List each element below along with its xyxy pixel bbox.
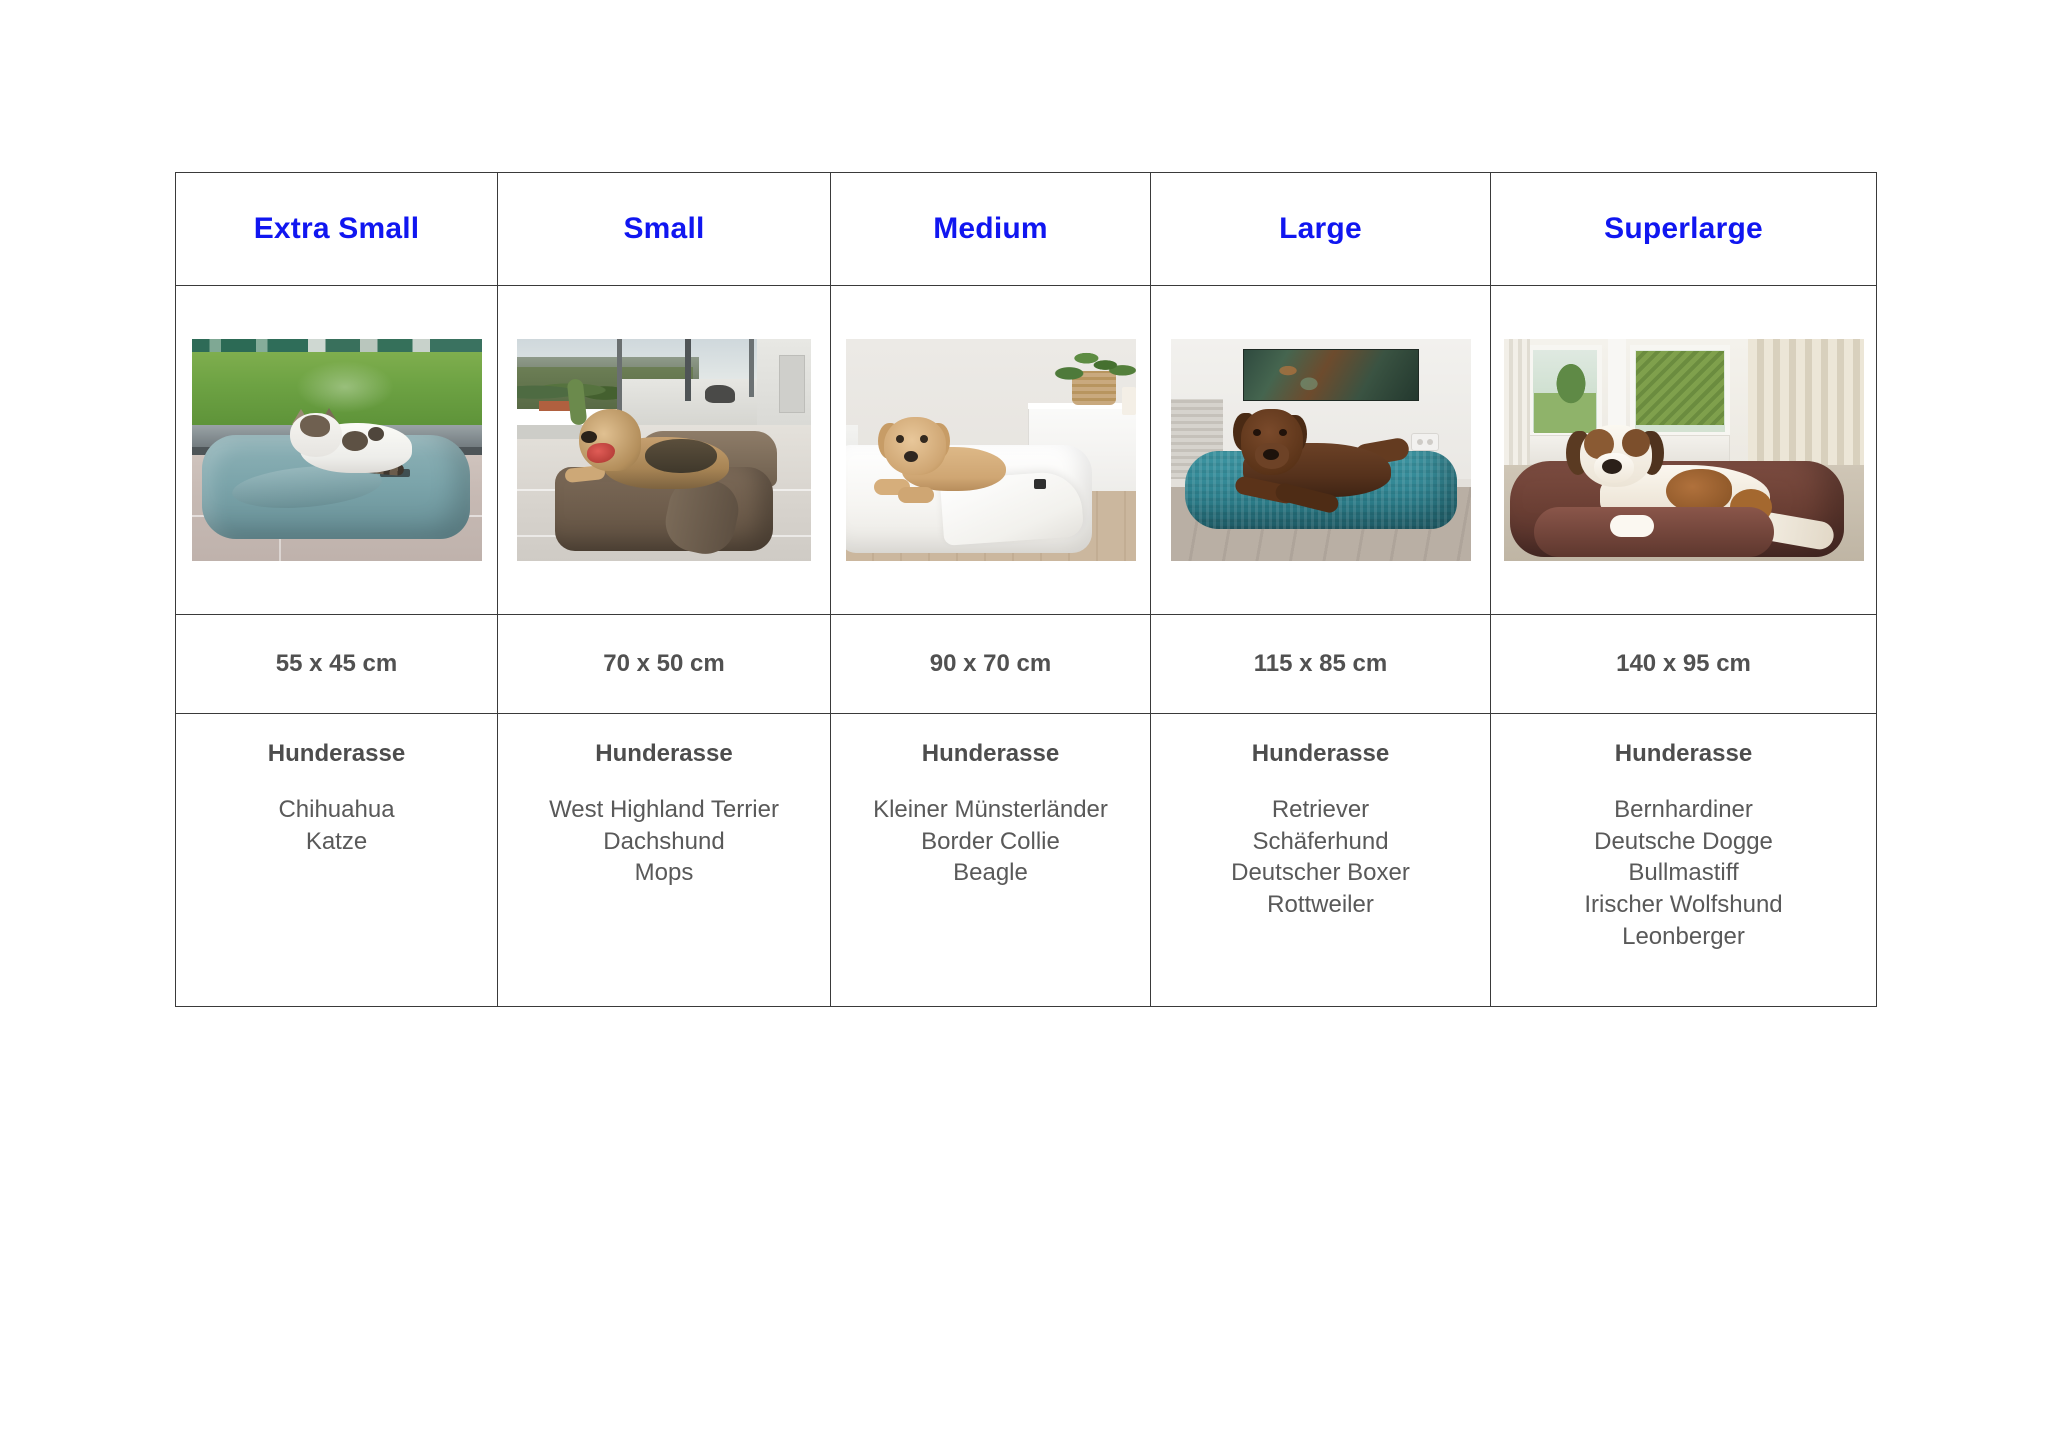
photo-cat-on-blue-dog-bed (192, 339, 482, 561)
table-breeds-row: Hunderasse Chihuahua Katze Hunderasse We… (176, 714, 1877, 1007)
dimension-cell-superlarge: 140 x 95 cm (1491, 615, 1877, 714)
dimension-cell-medium: 90 x 70 cm (831, 615, 1151, 714)
photo-layer-bed-label-tag (1034, 479, 1046, 489)
list-item: Leonberger (1491, 921, 1876, 953)
breed-title-superlarge: Hunderasse (1491, 740, 1876, 768)
photo-layer-dog-eye-left (1253, 429, 1261, 436)
photo-wrap-medium (831, 286, 1150, 614)
list-item: Irischer Wolfshund (1491, 889, 1876, 921)
photo-layer-dog-paw-right (898, 487, 934, 503)
photo-layer-bed-front-bolster (1534, 507, 1774, 557)
breeds-cell-medium: Hunderasse Kleiner Münsterländer Border … (831, 714, 1151, 1007)
header-cell-extra-small: Extra Small (176, 173, 498, 286)
photo-layer-dog-eye-right (1279, 429, 1287, 436)
photo-layer-candle (1122, 387, 1136, 415)
photo-layer-window-mullion-3 (749, 339, 754, 397)
photo-layer-wall-panel (779, 355, 805, 413)
page-canvas: Extra Small Small Medium Large Superlarg… (0, 0, 2048, 1448)
list-item: Border Collie (831, 826, 1150, 858)
list-item: Rottweiler (1151, 889, 1490, 921)
photo-layer-window-mullion-2 (685, 339, 691, 401)
photo-layer-artwork-detail (1267, 353, 1337, 397)
list-item: Kleiner Münsterländer (831, 794, 1150, 826)
breed-block-extra-small: Hunderasse Chihuahua Katze (176, 714, 497, 857)
breed-block-large: Hunderasse Retriever Schäferhund Deutsch… (1151, 714, 1490, 921)
breeds-cell-extra-small: Hunderasse Chihuahua Katze (176, 714, 498, 1007)
photo-cell-small (498, 286, 831, 615)
photo-layer-dog-eye-left (896, 435, 904, 443)
photo-layer-hedge (1636, 351, 1724, 425)
photo-layer-dog-face-mask-right (1622, 429, 1650, 457)
photo-wrap-small (498, 286, 830, 614)
photo-layer-cat-patch (342, 431, 368, 451)
size-name-small: Small (623, 212, 704, 245)
size-name-extra-small: Extra Small (254, 212, 420, 245)
dimension-value-large: 115 x 85 cm (1254, 650, 1387, 677)
dimension-value-superlarge: 140 x 95 cm (1616, 650, 1751, 677)
list-item: Katze (176, 826, 497, 858)
photo-layer-cat-patch-small (368, 427, 384, 441)
photo-layer-dog-nose (904, 451, 918, 462)
breeds-cell-superlarge: Hunderasse Bernhardiner Deutsche Dogge B… (1491, 714, 1877, 1007)
photo-terrier-on-brown-sofa-bed (517, 339, 811, 561)
breed-title-small: Hunderasse (498, 740, 830, 768)
list-item: Chihuahua (176, 794, 497, 826)
list-item: Dachshund (498, 826, 830, 858)
dimension-value-medium: 90 x 70 cm (930, 650, 1051, 677)
photo-chocolate-labrador-on-teal-dog-bed (1171, 339, 1471, 561)
breed-block-superlarge: Hunderasse Bernhardiner Deutsche Dogge B… (1491, 714, 1876, 952)
photo-layer-terrace-furniture (705, 385, 735, 403)
photo-saint-bernard-on-brown-dog-bed (1504, 339, 1864, 561)
list-item: West Highland Terrier (498, 794, 830, 826)
table-dimensions-row: 55 x 45 cm 70 x 50 cm 90 x 70 cm 115 x 8… (176, 615, 1877, 714)
photo-cell-superlarge (1491, 286, 1877, 615)
dimension-cell-extra-small: 55 x 45 cm (176, 615, 498, 714)
photo-wrap-large (1151, 286, 1490, 614)
breed-list-medium: Kleiner Münsterländer Border Collie Beag… (831, 794, 1150, 889)
header-cell-large: Large (1151, 173, 1491, 286)
dimension-value-extra-small: 55 x 45 cm (276, 650, 397, 677)
header-cell-superlarge: Superlarge (1491, 173, 1877, 286)
photo-layer-dog-head (884, 417, 946, 475)
list-item: Deutscher Boxer (1151, 857, 1490, 889)
photo-cockapoo-on-white-dog-bed (846, 339, 1136, 561)
dimension-value-small: 70 x 50 cm (603, 650, 724, 677)
photo-layer-socket-hole-left (1417, 439, 1423, 445)
photo-layer-socket-hole-right (1427, 439, 1433, 445)
list-item: Mops (498, 857, 830, 889)
size-name-medium: Medium (933, 212, 1048, 245)
photo-cell-medium (831, 286, 1151, 615)
list-item: Bullmastiff (1491, 857, 1876, 889)
size-name-large: Large (1279, 212, 1362, 245)
photo-layer-terrace (617, 379, 765, 429)
breed-list-superlarge: Bernhardiner Deutsche Dogge Bullmastiff … (1491, 794, 1876, 952)
header-cell-medium: Medium (831, 173, 1151, 286)
breeds-cell-small: Hunderasse West Highland Terrier Dachshu… (498, 714, 831, 1007)
photo-wrap-extra-small (176, 286, 497, 614)
size-name-superlarge: Superlarge (1604, 212, 1763, 245)
photo-layer-plant (1052, 343, 1136, 381)
photo-layer-dog-eye-right (920, 435, 928, 443)
photo-layer-dog-nose (1263, 449, 1279, 460)
photo-layer-dog-saddle (645, 439, 717, 473)
breed-block-medium: Hunderasse Kleiner Münsterländer Border … (831, 714, 1150, 889)
photo-layer-dog-paw (1610, 515, 1654, 537)
list-item: Deutsche Dogge (1491, 826, 1876, 858)
list-item: Beagle (831, 857, 1150, 889)
breed-list-small: West Highland Terrier Dachshund Mops (498, 794, 830, 889)
breeds-cell-large: Hunderasse Retriever Schäferhund Deutsch… (1151, 714, 1491, 1007)
photo-layer-dog-nose (1602, 459, 1622, 474)
list-item: Bernhardiner (1491, 794, 1876, 826)
breed-block-small: Hunderasse West Highland Terrier Dachshu… (498, 714, 830, 889)
photo-layer-hedge (192, 339, 482, 353)
table-photo-row (176, 286, 1877, 615)
dimension-cell-large: 115 x 85 cm (1151, 615, 1491, 714)
photo-layer-glass-reflection (296, 361, 395, 413)
header-cell-small: Small (498, 173, 831, 286)
list-item: Retriever (1151, 794, 1490, 826)
breed-list-extra-small: Chihuahua Katze (176, 794, 497, 857)
breed-title-extra-small: Hunderasse (176, 740, 497, 768)
breed-title-large: Hunderasse (1151, 740, 1490, 768)
dimension-cell-small: 70 x 50 cm (498, 615, 831, 714)
photo-cell-extra-small (176, 286, 498, 615)
table-header-row: Extra Small Small Medium Large Superlarg… (176, 173, 1877, 286)
photo-layer-dog-nose (581, 431, 597, 443)
breed-title-medium: Hunderasse (831, 740, 1150, 768)
photo-cell-large (1151, 286, 1491, 615)
photo-layer-tree (1550, 355, 1592, 407)
list-item: Schäferhund (1151, 826, 1490, 858)
photo-layer-power-socket (1411, 433, 1439, 451)
photo-layer-cat-face-patch (300, 415, 330, 437)
dog-bed-size-table: Extra Small Small Medium Large Superlarg… (175, 172, 1877, 1007)
photo-wrap-superlarge (1491, 286, 1876, 614)
breed-list-large: Retriever Schäferhund Deutscher Boxer Ro… (1151, 794, 1490, 921)
